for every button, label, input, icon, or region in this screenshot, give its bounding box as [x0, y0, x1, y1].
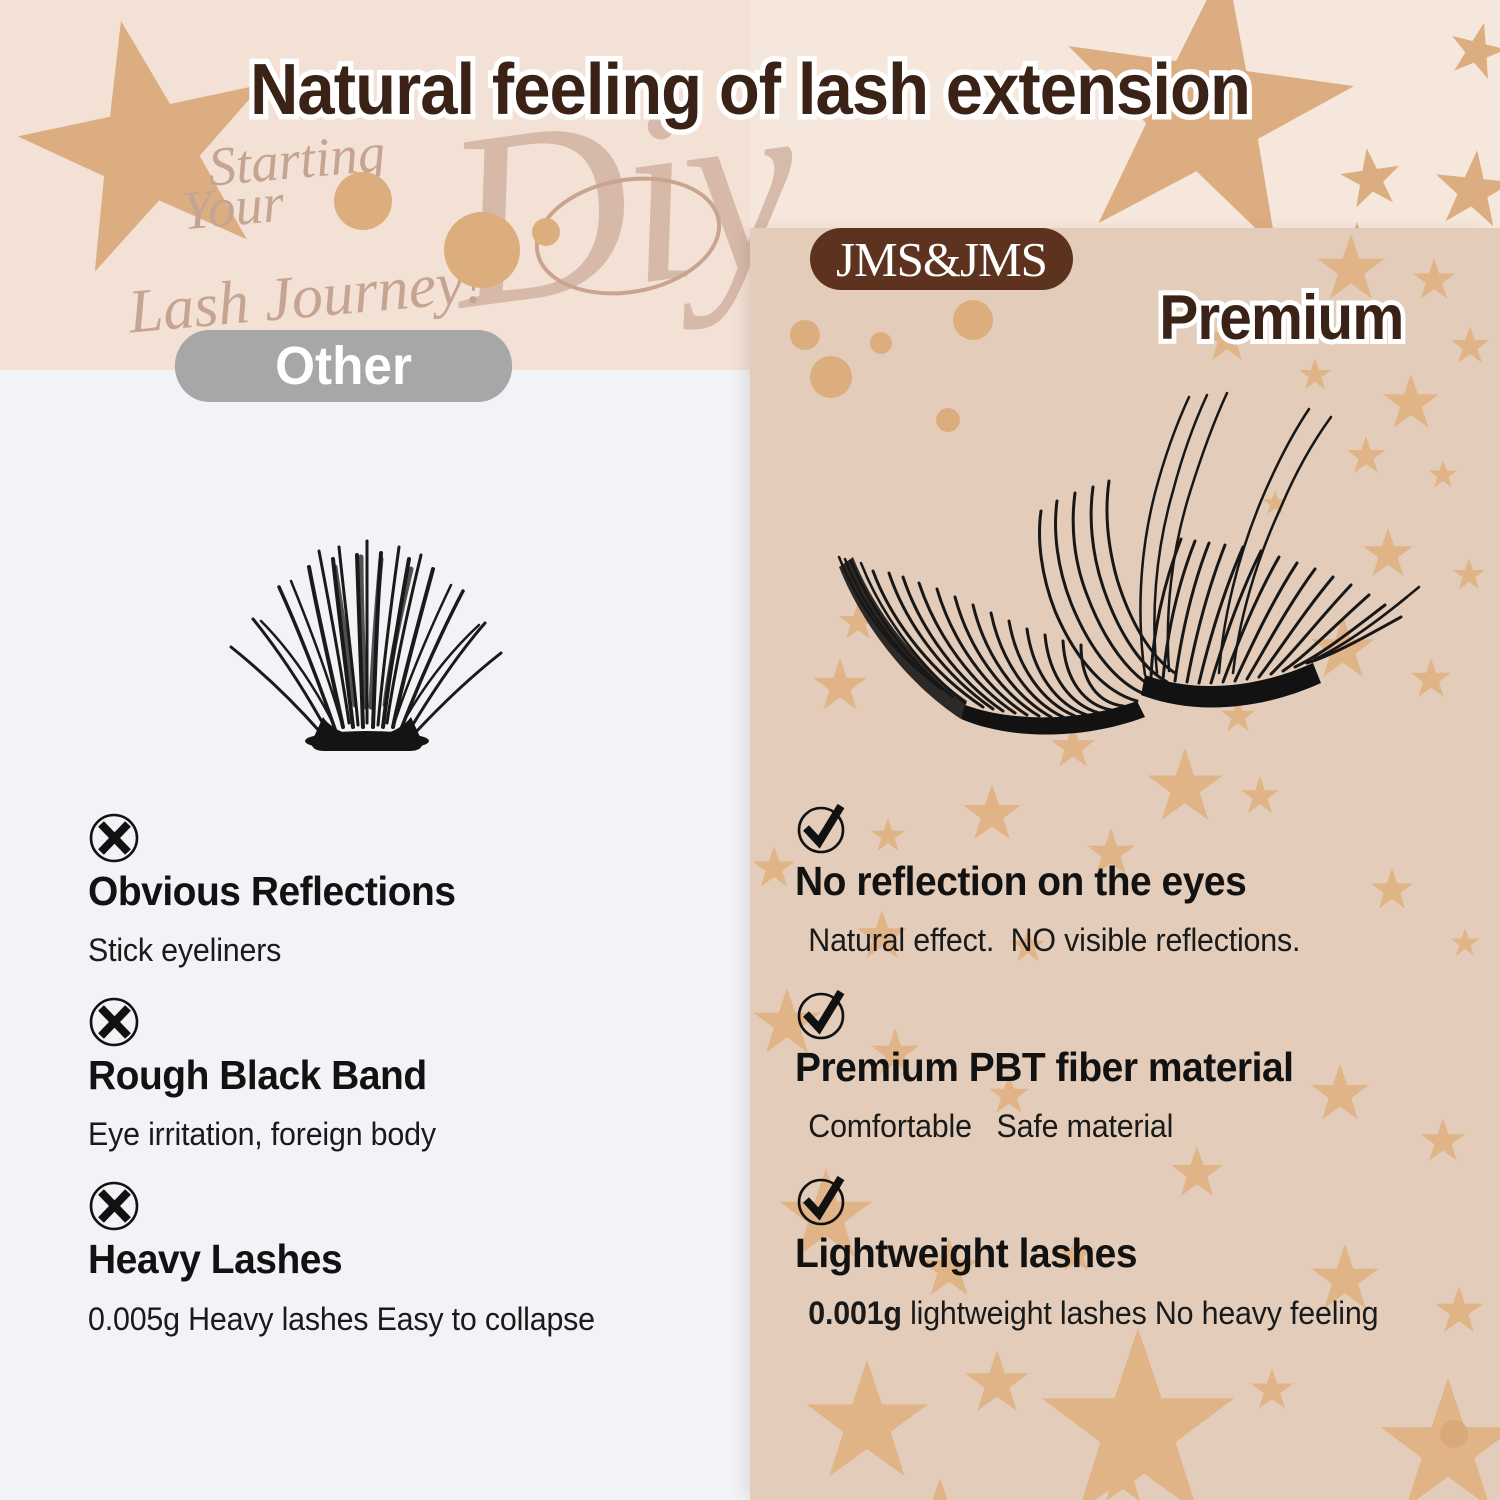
right-product-image	[815, 375, 1435, 835]
brand-badge: JMS&JMS	[810, 228, 1073, 290]
list-item: Rough Black Band Eye irritation, foreign…	[88, 996, 708, 1152]
feature-weight-value: 0.001g	[808, 1295, 902, 1331]
feature-subtitle: Natural effect. NO visible reflections.	[795, 923, 1441, 958]
list-item: Obvious Reflections Stick eyeliners	[88, 812, 708, 968]
comparison-infographic: Diy Starting Your Lash Journey! Natural …	[0, 0, 1500, 1500]
x-mark-icon	[88, 996, 140, 1048]
decorative-dot	[444, 212, 520, 288]
feature-title: No reflection on the eyes	[795, 860, 1441, 903]
decorative-dot	[334, 172, 392, 230]
feature-subtitle: Eye irritation, foreign body	[88, 1117, 677, 1152]
decorative-star	[804, 1360, 930, 1486]
decorative-star	[1378, 1378, 1500, 1500]
check-mark-icon	[795, 988, 847, 1040]
list-item: Premium PBT fiber material Comfortable S…	[795, 988, 1475, 1144]
decorative-dot	[870, 332, 892, 354]
decorative-star	[1450, 326, 1490, 366]
x-mark-icon	[88, 1180, 140, 1232]
x-mark-icon	[88, 812, 140, 864]
decorative-dot	[1440, 1420, 1468, 1448]
other-badge: Other	[175, 330, 512, 402]
page-title: Natural feeling of lash extension	[53, 54, 1448, 126]
decorative-dot	[532, 218, 560, 246]
other-feature-list: Obvious Reflections Stick eyeliners Roug…	[88, 812, 708, 1337]
list-item: No reflection on the eyes Natural effect…	[795, 802, 1475, 958]
decorative-star	[752, 846, 796, 890]
left-product-image	[195, 455, 525, 755]
premium-feature-list: No reflection on the eyes Natural effect…	[795, 802, 1475, 1361]
feature-subtitle: 0.001g lightweight lashes No heavy feeli…	[795, 1296, 1441, 1331]
feature-title: Obvious Reflections	[88, 870, 677, 913]
decorative-star	[1250, 1368, 1294, 1412]
list-item: Lightweight lashes 0.001g lightweight la…	[795, 1174, 1475, 1330]
feature-title: Lightweight lashes	[795, 1232, 1441, 1275]
feature-title: Heavy Lashes	[88, 1238, 677, 1281]
feature-subtitle: 0.005g Heavy lashes Easy to collapse	[88, 1302, 677, 1337]
decorative-dot	[953, 300, 993, 340]
check-mark-icon	[795, 1174, 847, 1226]
decorative-star	[1412, 258, 1456, 302]
decorative-star	[900, 1478, 980, 1500]
list-item: Heavy Lashes 0.005g Heavy lashes Easy to…	[88, 1180, 708, 1336]
feature-title: Rough Black Band	[88, 1054, 677, 1097]
feature-subtitle-rest: lightweight lashes No heavy feeling	[902, 1295, 1378, 1331]
headline-light: Natural feeling of	[250, 50, 798, 130]
feature-subtitle: Stick eyeliners	[88, 933, 677, 968]
check-mark-icon	[795, 802, 847, 854]
premium-badge: Premium	[1159, 282, 1403, 354]
decorative-dot	[790, 320, 820, 350]
feature-subtitle: Comfortable Safe material	[795, 1109, 1441, 1144]
headline-bold: lash extension	[798, 50, 1250, 130]
feature-title: Premium PBT fiber material	[795, 1046, 1441, 1089]
decorative-star	[1452, 558, 1486, 592]
